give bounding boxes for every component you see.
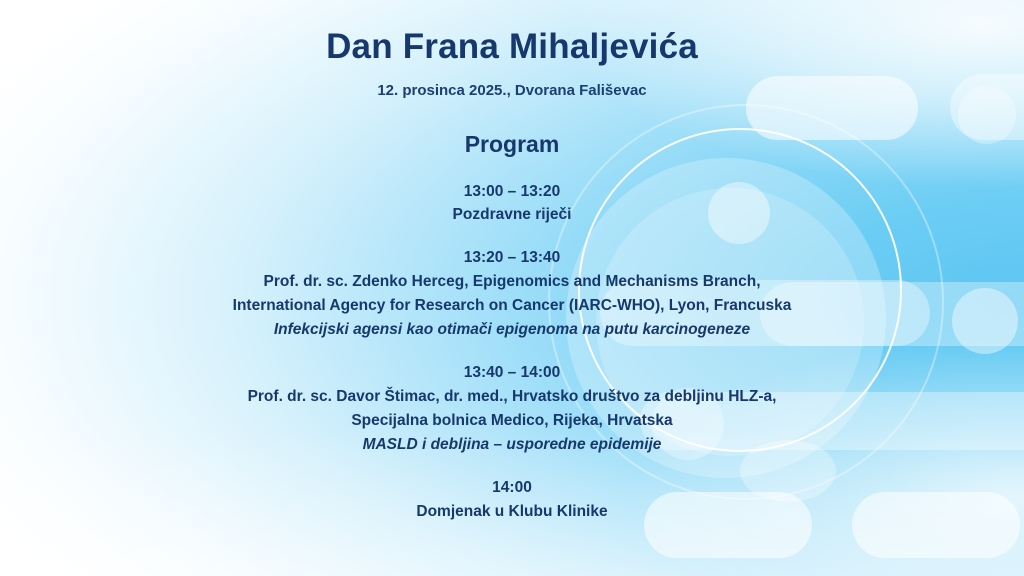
presentation-slide: Dan Frana Mihaljevića 12. prosinca 2025.… [0, 0, 1024, 576]
slide-subtitle: 12. prosinca 2025., Dvorana Fališevac [0, 82, 1024, 99]
program-entry-time: 13:20 – 13:40 [0, 246, 1024, 269]
program-entry-topic: MASLD i debljina – usporedne epidemije [0, 433, 1024, 458]
program-entry-line: Pozdravne riječi [0, 203, 1024, 227]
program-list: 13:00 – 13:20 Pozdravne riječi 13:20 – 1… [0, 180, 1024, 524]
program-entry-time: 13:40 – 14:00 [0, 361, 1024, 384]
program-entry-topic: Infekcijski agensi kao otimači epigenoma… [0, 318, 1024, 343]
slide-title: Dan Frana Mihaljevića [0, 27, 1024, 67]
program-entry-line: Prof. dr. sc. Zdenko Herceg, Epigenomics… [0, 270, 1024, 294]
program-entry-line: International Agency for Research on Can… [0, 294, 1024, 318]
program-entry-line: Prof. dr. sc. Davor Štimac, dr. med., Hr… [0, 385, 1024, 409]
program-heading: Program [0, 131, 1024, 158]
program-entry: 14:00 Domjenak u Klubu Klinike [0, 476, 1024, 523]
program-entry-line: Domjenak u Klubu Klinike [0, 500, 1024, 524]
program-entry: 13:20 – 13:40 Prof. dr. sc. Zdenko Herce… [0, 246, 1024, 342]
slide-content: Dan Frana Mihaljevića 12. prosinca 2025.… [0, 0, 1024, 576]
program-entry-time: 13:00 – 13:20 [0, 180, 1024, 203]
program-entry: 13:40 – 14:00 Prof. dr. sc. Davor Štimac… [0, 361, 1024, 457]
program-entry-time: 14:00 [0, 476, 1024, 499]
program-entry-line: Specijalna bolnica Medico, Rijeka, Hrvat… [0, 409, 1024, 433]
program-entry: 13:00 – 13:20 Pozdravne riječi [0, 180, 1024, 227]
